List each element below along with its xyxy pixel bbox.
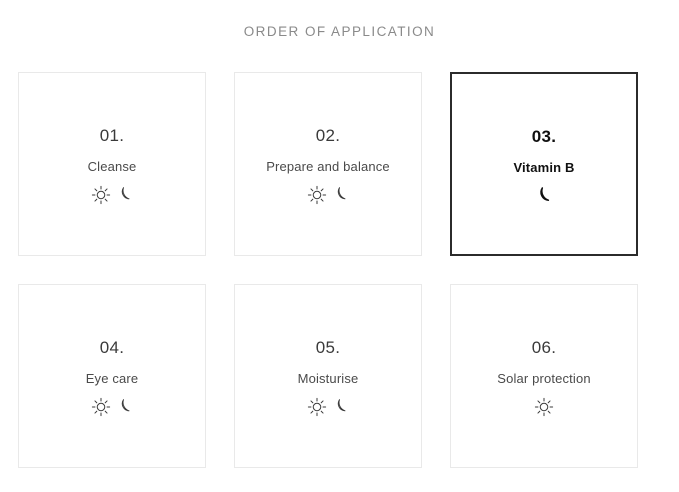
step-card-05[interactable]: 05. Moisturise: [234, 284, 422, 468]
order-of-application-page: ORDER OF APPLICATION 01. Cleanse: [0, 0, 679, 492]
sun-icon: [533, 396, 555, 418]
step-icons: [90, 184, 135, 206]
step-label: Eye care: [86, 372, 139, 385]
step-label: Cleanse: [88, 160, 137, 173]
steps-grid: 01. Cleanse: [18, 72, 642, 468]
step-number: 01.: [100, 127, 125, 144]
step-number: 03.: [532, 128, 557, 145]
step-label: Prepare and balance: [266, 160, 390, 173]
step-card-01[interactable]: 01. Cleanse: [18, 72, 206, 256]
page-title: ORDER OF APPLICATION: [0, 24, 679, 39]
step-icons: [306, 184, 351, 206]
step-number: 02.: [316, 127, 341, 144]
step-label: Moisturise: [298, 372, 359, 385]
step-label: Solar protection: [497, 372, 590, 385]
step-icons: [90, 396, 135, 418]
moon-icon: [331, 184, 351, 206]
step-number: 06.: [532, 339, 557, 356]
moon-icon: [115, 184, 135, 206]
step-label: Vitamin B: [513, 161, 574, 174]
step-number: 05.: [316, 339, 341, 356]
step-card-04[interactable]: 04. Eye care: [18, 284, 206, 468]
step-card-02[interactable]: 02. Prepare and balance: [234, 72, 422, 256]
step-card-03[interactable]: 03. Vitamin B: [450, 72, 638, 256]
moon-icon: [331, 396, 351, 418]
step-icons: [306, 396, 351, 418]
moon-icon: [115, 396, 135, 418]
step-number: 04.: [100, 339, 125, 356]
sun-icon: [306, 184, 328, 206]
moon-icon: [533, 184, 555, 208]
step-icons: [533, 185, 555, 207]
sun-icon: [90, 396, 112, 418]
sun-icon: [90, 184, 112, 206]
sun-icon: [306, 396, 328, 418]
step-card-06[interactable]: 06. Solar protection: [450, 284, 638, 468]
step-icons: [533, 396, 555, 418]
